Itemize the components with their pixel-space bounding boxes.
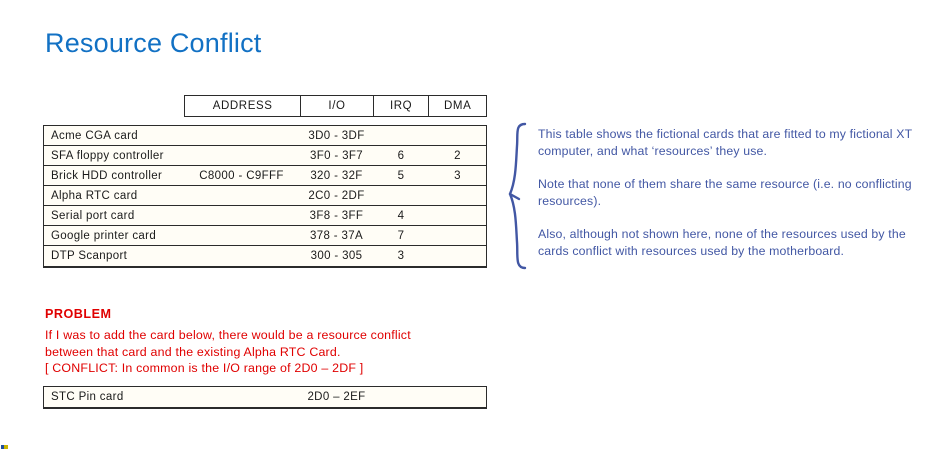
cell-dma xyxy=(429,206,486,225)
table-row: Acme CGA card 3D0 - 3DF xyxy=(44,126,486,146)
cell-address xyxy=(183,186,300,205)
new-card-table: STC Pin card 2D0 – 2EF xyxy=(43,386,487,409)
cell-card-name: Brick HDD controller xyxy=(44,166,183,185)
cell-io: 3F0 - 3F7 xyxy=(300,146,373,165)
problem-line-1: If I was to add the card below, there wo… xyxy=(45,327,515,344)
cell-address: C8000 - C9FFF xyxy=(183,166,300,185)
problem-body: If I was to add the card below, there wo… xyxy=(45,327,515,377)
cell-irq: 7 xyxy=(373,226,429,245)
cell-irq: 3 xyxy=(373,246,429,266)
column-header-dma: DMA xyxy=(429,96,486,116)
note-paragraph-2: Note that none of them share the same re… xyxy=(538,176,926,210)
column-header-address: ADDRESS xyxy=(185,96,301,116)
cell-io: 3F8 - 3FF xyxy=(300,206,373,225)
problem-heading: PROBLEM xyxy=(45,307,111,321)
table-row: Google printer card 378 - 37A 7 xyxy=(44,226,486,246)
cell-address xyxy=(183,206,300,225)
corner-artifact xyxy=(1,445,8,449)
cell-io: 2C0 - 2DF xyxy=(300,186,373,205)
cell-dma: 2 xyxy=(429,146,486,165)
cell-address xyxy=(183,126,300,145)
table-row: STC Pin card 2D0 – 2EF xyxy=(44,387,486,407)
cell-dma xyxy=(429,226,486,245)
cell-address xyxy=(183,226,300,245)
cell-address xyxy=(183,246,300,266)
table-row: Brick HDD controller C8000 - C9FFF 320 -… xyxy=(44,166,486,186)
cell-card-name: Serial port card xyxy=(44,206,183,225)
cell-dma xyxy=(429,387,486,407)
slide-canvas: Resource Conflict ADDRESS I/O IRQ DMA Ac… xyxy=(0,0,939,452)
cell-card-name: STC Pin card xyxy=(44,387,183,407)
note-paragraph-1: This table shows the fictional cards tha… xyxy=(538,126,926,160)
resource-table: Acme CGA card 3D0 - 3DF SFA floppy contr… xyxy=(43,125,487,268)
cell-card-name: Acme CGA card xyxy=(44,126,183,145)
cell-dma xyxy=(429,186,486,205)
cell-io: 378 - 37A xyxy=(300,226,373,245)
table-row: Alpha RTC card 2C0 - 2DF xyxy=(44,186,486,206)
problem-line-2: between that card and the existing Alpha… xyxy=(45,344,515,361)
column-header-io: I/O xyxy=(301,96,374,116)
problem-line-3: [ CONFLICT: In common is the I/O range o… xyxy=(45,360,515,377)
cell-card-name: SFA floppy controller xyxy=(44,146,183,165)
page-title: Resource Conflict xyxy=(45,28,262,59)
cell-dma: 3 xyxy=(429,166,486,185)
cell-card-name: Alpha RTC card xyxy=(44,186,183,205)
cell-irq xyxy=(373,186,429,205)
note-paragraph-3: Also, although not shown here, none of t… xyxy=(538,226,926,260)
cell-io: 3D0 - 3DF xyxy=(300,126,373,145)
table-row: SFA floppy controller 3F0 - 3F7 6 2 xyxy=(44,146,486,166)
cell-irq: 4 xyxy=(373,206,429,225)
table-row: DTP Scanport 300 - 305 3 xyxy=(44,246,486,266)
cell-dma xyxy=(429,246,486,266)
cell-io: 320 - 32F xyxy=(300,166,373,185)
cell-dma xyxy=(429,126,486,145)
cell-address xyxy=(183,387,300,407)
cell-io: 2D0 – 2EF xyxy=(300,387,373,407)
resource-table-header: ADDRESS I/O IRQ DMA xyxy=(184,95,487,117)
cell-irq xyxy=(373,387,429,407)
cell-address xyxy=(183,146,300,165)
table-row: Serial port card 3F8 - 3FF 4 xyxy=(44,206,486,226)
cell-card-name: DTP Scanport xyxy=(44,246,183,266)
notes-panel: This table shows the fictional cards tha… xyxy=(538,126,926,260)
column-header-irq: IRQ xyxy=(374,96,430,116)
cell-irq: 6 xyxy=(373,146,429,165)
cell-card-name: Google printer card xyxy=(44,226,183,245)
cell-irq xyxy=(373,126,429,145)
curly-brace-icon xyxy=(505,122,531,270)
cell-irq: 5 xyxy=(373,166,429,185)
cell-io: 300 - 305 xyxy=(300,246,373,266)
